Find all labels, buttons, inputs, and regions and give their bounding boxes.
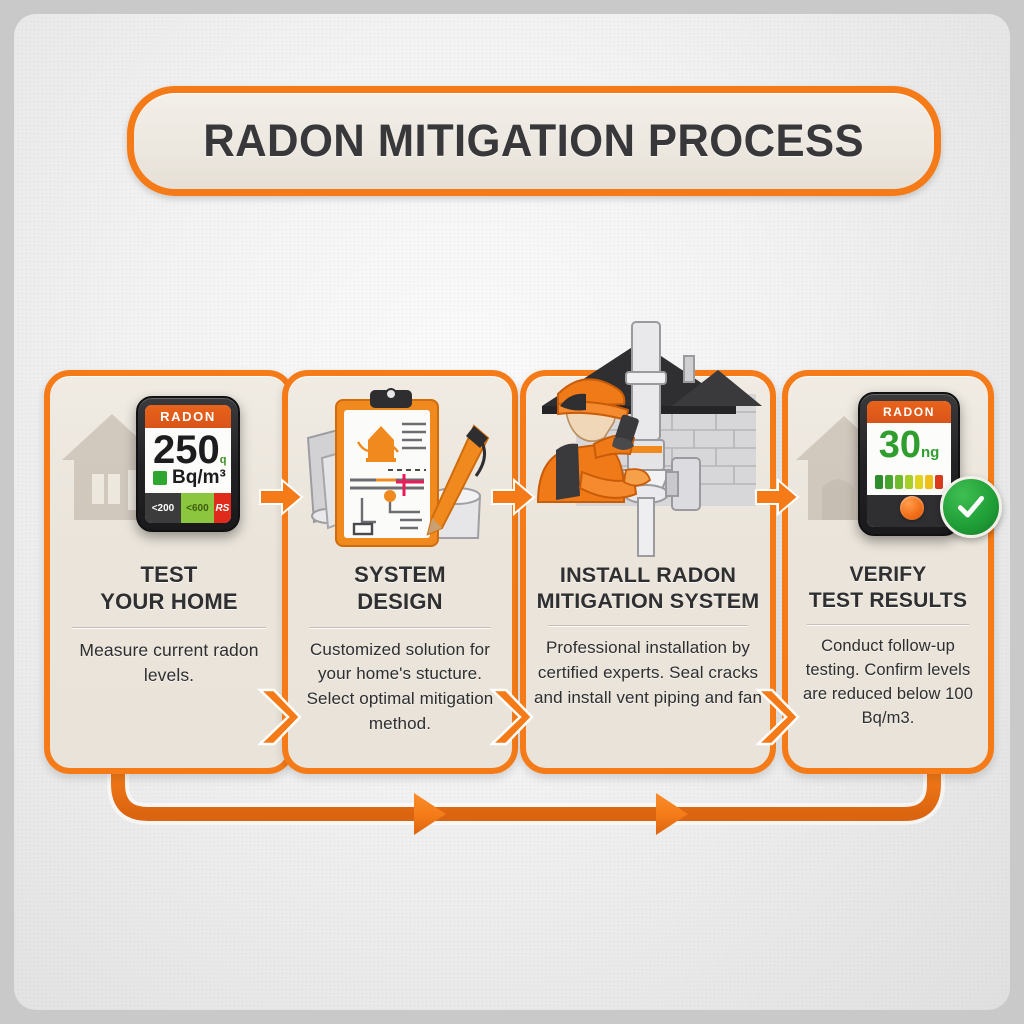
bar-seg-3 (895, 475, 903, 489)
connector-arrow-2 (490, 474, 536, 520)
step-1-divider (72, 627, 266, 628)
chevron-arrow-3 (752, 686, 800, 748)
scale-segment-mid: <600 (181, 493, 214, 523)
step-3-body: Professional installation by certified e… (532, 636, 764, 710)
detector-readout: 250q Bq/m³ (145, 428, 231, 493)
clipboard-icon (336, 389, 438, 546)
chevron-arrow-2 (486, 686, 534, 748)
bar-seg-4 (905, 475, 913, 489)
clipboard-blueprint-icon (292, 386, 500, 556)
step-card-install-mitigation-system[interactable]: INSTALL RADON MITIGATION SYSTEM Professi… (520, 370, 776, 774)
verified-check-badge (940, 476, 1002, 538)
step-2-body: Customized solution for your home's stuc… (294, 638, 506, 737)
step-card-system-design[interactable]: SYSTEM DESIGN Customized solution for yo… (282, 370, 518, 774)
screenshot-stage: RADON MITIGATION PROCESS (0, 0, 1024, 1024)
loopback-arrowhead-1 (414, 793, 446, 835)
detector-value-group: 30ng (867, 426, 951, 464)
checkmark-icon (955, 491, 987, 523)
connector-arrow-3 (754, 474, 800, 520)
detector-power-button[interactable] (900, 496, 924, 520)
step-4-heading-line-1: VERIFY (809, 562, 967, 588)
detector-value: 30 (879, 424, 921, 466)
page-title-banner: RADON MITIGATION PROCESS (127, 86, 941, 196)
step-3-heading: INSTALL RADON MITIGATION SYSTEM (537, 562, 760, 614)
connector-arrow-1 (258, 474, 304, 520)
detector-suffix: ng (921, 444, 939, 461)
step-2-heading-line-1: SYSTEM (354, 562, 446, 589)
step-card-verify-test-results[interactable]: RADON 30ng (782, 370, 994, 774)
bar-seg-7 (935, 475, 943, 489)
step-3-divider (548, 625, 748, 626)
infographic-canvas: RADON MITIGATION PROCESS (14, 14, 1010, 1010)
step-3-illustration (526, 372, 770, 560)
step-3-heading-line-1: INSTALL RADON (537, 562, 760, 588)
page-title: RADON MITIGATION PROCESS (204, 115, 865, 167)
detector-unit: Bq/m³ (172, 467, 226, 489)
detector-label: RADON (867, 401, 951, 423)
detector-readout: 30ng (867, 423, 951, 495)
step-2-text: SYSTEM DESIGN Customized solution for yo… (288, 562, 512, 760)
step-1-illustration: RADON 250q Bq/m³ (50, 372, 288, 560)
step-2-heading-line-2: DESIGN (354, 589, 446, 616)
step-1-heading: TEST YOUR HOME (100, 562, 237, 616)
radon-detector-device: RADON 250q Bq/m³ (136, 396, 240, 532)
detector-gradient-bar (875, 475, 944, 489)
step-4-text: VERIFY TEST RESULTS Conduct follow-up te… (788, 562, 988, 760)
step-4-illustration: RADON 30ng (788, 372, 988, 560)
detector-value: 250 (153, 428, 220, 472)
chevron-arrow-1 (254, 686, 302, 748)
detector-screen: RADON 250q Bq/m³ (145, 405, 231, 523)
detector-value-group: 250q (153, 430, 226, 470)
step-2-illustration (288, 372, 512, 560)
bar-seg-2 (885, 475, 893, 489)
step-3-text: INSTALL RADON MITIGATION SYSTEM Professi… (526, 562, 770, 760)
detector-label: RADON (145, 405, 231, 428)
scale-segment-high: RS (214, 493, 231, 523)
technician-installation-icon (522, 320, 766, 560)
loopback-arrowhead-2 (656, 793, 688, 835)
green-status-square-icon (153, 471, 167, 485)
detector-unit-row: Bq/m³ (153, 467, 226, 489)
step-1-heading-line-1: TEST (100, 562, 237, 589)
step-3-heading-line-2: MITIGATION SYSTEM (537, 588, 760, 614)
detector-superscript: q (220, 454, 227, 466)
bar-seg-5 (915, 475, 923, 489)
step-4-body: Conduct follow-up testing. Confirm level… (794, 635, 982, 731)
bar-seg-6 (925, 475, 933, 489)
step-1-heading-line-2: YOUR HOME (100, 589, 237, 616)
step-2-heading: SYSTEM DESIGN (354, 562, 446, 616)
detector-scale-bar: <200 <600 RS (145, 493, 231, 523)
step-4-heading: VERIFY TEST RESULTS (809, 562, 967, 613)
step-4-divider (807, 624, 969, 625)
scale-segment-low: <200 (145, 493, 181, 523)
bar-seg-1 (875, 475, 883, 489)
step-1-text: TEST YOUR HOME Measure current radon lev… (50, 562, 288, 760)
step-4-heading-line-2: TEST RESULTS (809, 588, 967, 614)
step-2-divider (309, 627, 491, 628)
step-1-body: Measure current radon levels. (56, 638, 282, 689)
